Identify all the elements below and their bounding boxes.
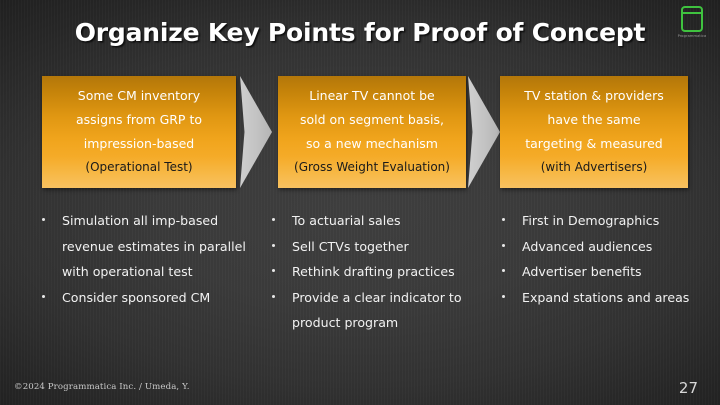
chevron-right-icon-2 xyxy=(468,76,500,188)
list-item-label: Advanced audiences xyxy=(522,239,652,254)
concept-box-1-line-2: assigns from GRP to xyxy=(48,108,230,132)
list-item: Expand stations and areas xyxy=(496,285,708,311)
concept-box-2-line-1: Linear TV cannot be xyxy=(284,84,460,108)
logo-caption: Programmatica xyxy=(674,34,710,38)
list-item-label: First in Demographics xyxy=(522,213,659,228)
bullet-column-3: First in Demographics Advanced audiences… xyxy=(496,208,708,310)
concept-box-1-line-1: Some CM inventory xyxy=(48,84,230,108)
concept-box-3-line-2: have the same xyxy=(506,108,682,132)
bullet-dot-icon xyxy=(42,295,45,298)
list-item-label: Simulation all imp-based revenue estimat… xyxy=(62,213,246,279)
list-item-label: Provide a clear indicator to product pro… xyxy=(292,290,462,331)
list-item: Simulation all imp-based revenue estimat… xyxy=(36,208,266,285)
list-item: Rethink drafting practices xyxy=(266,259,494,285)
list-item: Consider sponsored CM xyxy=(36,285,266,311)
chevron-right-icon-1 xyxy=(240,76,272,188)
bullet-dot-icon xyxy=(502,244,505,247)
concept-box-2-subtitle: (Gross Weight Evaluation) xyxy=(284,156,460,178)
programmatica-logo: Programmatica xyxy=(674,4,710,46)
concept-box-3-subtitle: (with Advertisers) xyxy=(506,156,682,178)
list-item: Sell CTVs together xyxy=(266,234,494,260)
bullet-dot-icon xyxy=(272,218,275,221)
bullet-column-2: To actuarial sales Sell CTVs together Re… xyxy=(266,208,494,336)
page-title: Organize Key Points for Proof of Concept xyxy=(0,18,720,47)
copyright-footer: ©2024 Programmatica Inc. / Umeda, Y. xyxy=(14,382,190,392)
concept-box-3-line-1: TV station & providers xyxy=(506,84,682,108)
concept-box-2: Linear TV cannot be sold on segment basi… xyxy=(278,76,466,188)
list-item-label: To actuarial sales xyxy=(292,213,401,228)
list-item: To actuarial sales xyxy=(266,208,494,234)
list-item-label: Consider sponsored CM xyxy=(62,290,210,305)
concept-box-1: Some CM inventory assigns from GRP to im… xyxy=(42,76,236,188)
list-item-label: Sell CTVs together xyxy=(292,239,409,254)
concept-box-3-line-3: targeting & measured xyxy=(506,132,682,156)
list-item: Advanced audiences xyxy=(496,234,708,260)
bullet-dot-icon xyxy=(502,295,505,298)
bullet-dot-icon xyxy=(502,269,505,272)
bullet-dot-icon xyxy=(42,218,45,221)
slide-canvas: Organize Key Points for Proof of Concept… xyxy=(0,0,720,405)
list-item-label: Advertiser benefits xyxy=(522,264,642,279)
page-number: 27 xyxy=(679,379,698,397)
bullet-dot-icon xyxy=(272,295,275,298)
bullet-dot-icon xyxy=(272,269,275,272)
list-item-label: Rethink drafting practices xyxy=(292,264,455,279)
bullet-dot-icon xyxy=(502,218,505,221)
logo-bar-icon xyxy=(681,12,703,14)
logo-shape-icon xyxy=(681,6,703,32)
concept-box-2-line-3: so a new mechanism xyxy=(284,132,460,156)
concept-box-1-subtitle: (Operational Test) xyxy=(48,156,230,178)
concept-box-1-line-3: impression-based xyxy=(48,132,230,156)
bullet-column-1: Simulation all imp-based revenue estimat… xyxy=(36,208,266,310)
list-item: Provide a clear indicator to product pro… xyxy=(266,285,494,336)
concept-box-2-line-2: sold on segment basis, xyxy=(284,108,460,132)
list-item: Advertiser benefits xyxy=(496,259,708,285)
bullet-dot-icon xyxy=(272,244,275,247)
list-item-label: Expand stations and areas xyxy=(522,290,689,305)
concept-box-3: TV station & providers have the same tar… xyxy=(500,76,688,188)
list-item: First in Demographics xyxy=(496,208,708,234)
